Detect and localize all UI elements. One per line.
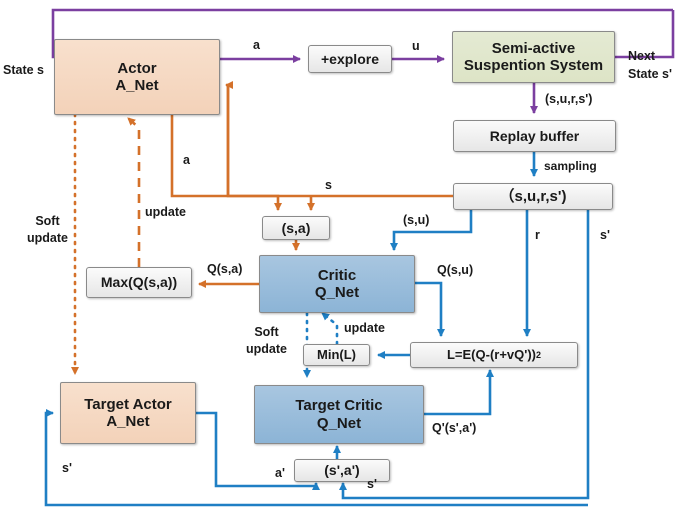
node-min-loss[interactable]: Min(L) <box>303 344 370 366</box>
label-control-u: u <box>412 39 420 53</box>
label-update-actor: update <box>145 205 186 219</box>
node-target-critic-line1: Target Critic <box>295 397 382 414</box>
label-tuple-surs: (s,u,r,s') <box>545 92 592 106</box>
node-suspension-system[interactable]: Semi-active Suspention System <box>452 31 615 83</box>
label-state-s: State s <box>3 63 44 77</box>
node-target-critic-line2: Q_Net <box>295 415 382 432</box>
label-su: (s,u) <box>403 213 429 227</box>
node-explore[interactable]: +explore <box>308 45 392 73</box>
node-critic-line1: Critic <box>315 267 359 284</box>
label-q-su: Q(s,u) <box>437 263 473 277</box>
node-critic-line2: Q_Net <box>315 284 359 301</box>
label-aprime: a' <box>275 466 285 480</box>
node-plant-line2: Suspention System <box>464 57 603 74</box>
wire-update-actor <box>128 118 139 267</box>
label-state-s-mid: s <box>325 178 332 192</box>
label-update-critic: update <box>344 321 385 335</box>
diagram-canvas: Actor A_Net +explore Semi-active Suspent… <box>0 0 685 512</box>
node-target-critic[interactable]: Target Critic Q_Net <box>254 385 424 444</box>
node-loss-text: L=E(Q-(r+vQ')) <box>447 348 536 363</box>
label-soft-update-critic-line2: update <box>246 341 287 358</box>
node-actor[interactable]: Actor A_Net <box>54 39 220 115</box>
node-plant-line1: Semi-active <box>464 40 603 57</box>
node-target-actor[interactable]: Target Actor A_Net <box>60 382 196 444</box>
node-replay-buffer[interactable]: Replay buffer <box>453 120 616 152</box>
label-next-state-line2: State s' <box>628 65 672 83</box>
node-state-action-pair[interactable]: (s,a) <box>262 216 330 240</box>
label-q-prime: Q'(s',a') <box>432 421 476 435</box>
label-soft-update-actor-line1: Soft <box>27 213 68 230</box>
node-sample-tuple[interactable]: （s,u,r,s') <box>453 183 613 210</box>
label-action-a-top: a <box>253 38 260 52</box>
label-action-a-mid: a <box>183 153 190 167</box>
node-actor-line2: A_Net <box>115 77 158 94</box>
label-soft-update-actor-line2: update <box>27 230 68 247</box>
wire-s-into-actor <box>226 85 228 196</box>
label-next-state-line1: Next <box>628 47 672 65</box>
label-soft-update-critic: Soft update <box>246 324 287 358</box>
wire-target-critic-to-loss <box>424 370 490 414</box>
wire-update-critic <box>322 313 337 344</box>
label-soft-update-actor: Soft update <box>27 213 68 247</box>
node-loss-function[interactable]: L=E(Q-(r+vQ'))2 <box>410 342 578 368</box>
node-target-actor-line2: A_Net <box>84 413 172 430</box>
label-reward-r: r <box>535 228 540 242</box>
wire-tuple-s-to-actor <box>228 85 453 196</box>
node-target-actor-line1: Target Actor <box>84 396 172 413</box>
label-sprime-right: s' <box>600 228 610 242</box>
label-next-state: Next State s' <box>628 47 672 83</box>
label-soft-update-critic-line1: Soft <box>246 324 287 341</box>
node-loss-exponent: 2 <box>536 350 541 360</box>
wire-qsu-to-loss <box>415 283 441 336</box>
node-actor-line1: Actor <box>115 60 158 77</box>
label-sprime-bottom: s' <box>367 477 377 491</box>
label-q-sa: Q(s,a) <box>207 262 242 276</box>
label-sprime-left: s' <box>62 461 72 475</box>
label-sampling: sampling <box>544 159 597 173</box>
node-max-q[interactable]: Max(Q(s,a)) <box>86 267 192 298</box>
node-critic[interactable]: Critic Q_Net <box>259 255 415 313</box>
